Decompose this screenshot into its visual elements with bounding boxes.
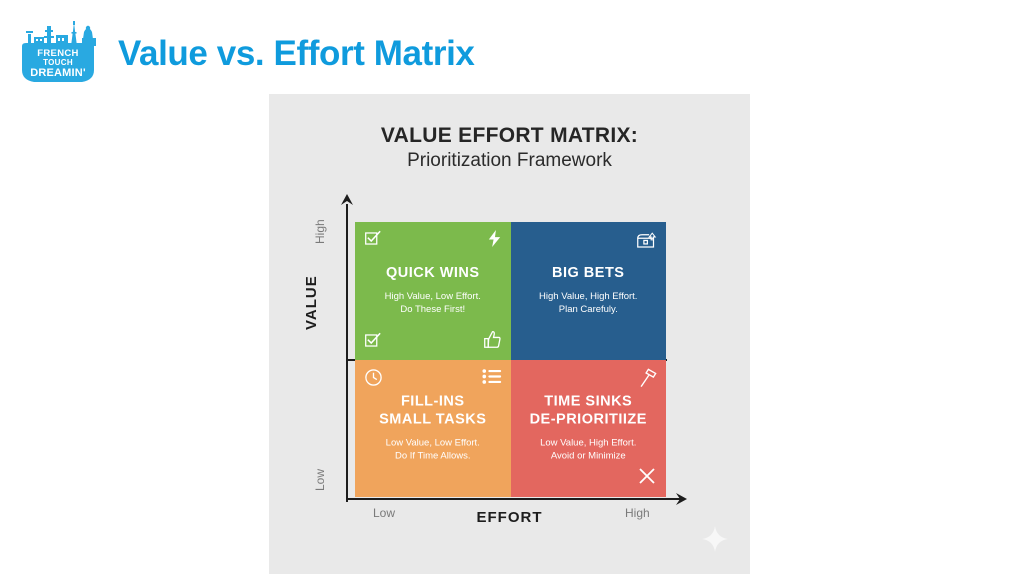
matrix-subtitle: Prioritization Framework <box>269 150 750 172</box>
quadrant-fill-ins-title-line1: FILL-INS <box>363 394 503 411</box>
quadrant-quick-wins[interactable]: QUICK WINS High Value, Low Effort. Do Th… <box>355 222 511 360</box>
quadrant-big-bets-title: BIG BETS <box>519 265 659 282</box>
value-axis-tick-high: High <box>313 219 327 244</box>
quadrant-time-sinks-desc-line1: Low Value, High Effort. <box>519 437 659 450</box>
quadrant-quick-wins-desc-line2: Do These First! <box>363 304 503 317</box>
quadrant-fill-ins-desc-line1: Low Value, Low Effort. <box>363 437 503 450</box>
quadrant-time-sinks-title-line2: DE-PRIORITIIZE <box>519 411 659 428</box>
effort-axis-arrow-icon <box>673 492 687 506</box>
clock-icon <box>364 368 383 392</box>
french-touch-dreamin-logo: FRENCH TOUCH DREAMIN' <box>14 18 102 86</box>
quadrant-big-bets-desc: High Value, High Effort. Plan Carefuly. <box>519 291 659 317</box>
quadrant-quick-wins-title: QUICK WINS <box>363 265 503 282</box>
slide-header: FRENCH TOUCH DREAMIN' Value vs. Effort M… <box>0 0 1024 100</box>
value-axis-arrow-icon <box>340 194 354 208</box>
value-axis-line <box>346 204 348 502</box>
quadrant-fill-ins[interactable]: FILL-INS SMALL TASKS Low Value, Low Effo… <box>355 360 511 498</box>
svg-text:DREAMIN': DREAMIN' <box>30 67 86 79</box>
quadrant-time-sinks-title-line1: TIME SINKS <box>519 394 659 411</box>
svg-text:TOUCH: TOUCH <box>43 58 73 67</box>
value-axis-tick-low: Low <box>313 469 327 491</box>
quadrant-quick-wins-desc-line1: High Value, Low Effort. <box>363 291 503 304</box>
quadrant-big-bets-desc-line2: Plan Carefuly. <box>519 304 659 317</box>
matrix-title: VALUE EFFORT MATRIX: <box>269 124 750 148</box>
quadrant-quick-wins-desc: High Value, Low Effort. Do These First! <box>363 291 503 317</box>
quadrant-quick-wins-content: QUICK WINS High Value, Low Effort. Do Th… <box>355 265 511 317</box>
quadrant-time-sinks-title: TIME SINKS DE-PRIORITIIZE <box>519 394 659 429</box>
quadrant-time-sinks[interactable]: TIME SINKS DE-PRIORITIIZE Low Value, Hig… <box>511 360 667 498</box>
matrix-plot-area: QUICK WINS High Value, Low Effort. Do Th… <box>355 222 666 497</box>
cross-x-icon <box>637 466 657 491</box>
effort-axis-tick-high: High <box>625 506 650 520</box>
page-title: Value vs. Effort Matrix <box>118 34 474 74</box>
quadrant-fill-ins-desc: Low Value, Low Effort. Do If Time Allows… <box>363 437 503 463</box>
matrix-card: VALUE EFFORT MATRIX: Prioritization Fram… <box>269 94 750 574</box>
bullet-list-icon <box>482 368 502 390</box>
checkbox-checked-icon <box>364 230 381 252</box>
hammer-icon <box>637 368 657 393</box>
quadrant-big-bets-desc-line1: High Value, High Effort. <box>519 291 659 304</box>
logo-icon: FRENCH TOUCH DREAMIN' <box>14 18 102 86</box>
quadrant-time-sinks-desc: Low Value, High Effort. Avoid or Minimiz… <box>519 437 659 463</box>
effort-axis-line <box>347 498 680 500</box>
effort-axis-tick-low: Low <box>373 506 395 520</box>
lightning-bolt-icon <box>487 230 502 252</box>
quadrant-fill-ins-content: FILL-INS SMALL TASKS Low Value, Low Effo… <box>355 394 511 463</box>
quadrant-fill-ins-title-line2: SMALL TASKS <box>363 411 503 428</box>
value-axis-label: VALUE <box>303 275 320 330</box>
thumbs-up-icon <box>483 330 502 354</box>
quadrant-big-bets-content: BIG BETS High Value, High Effort. Plan C… <box>511 265 667 317</box>
quadrant-time-sinks-content: TIME SINKS DE-PRIORITIIZE Low Value, Hig… <box>511 394 667 463</box>
treasure-chest-icon <box>636 230 657 255</box>
quadrant-big-bets[interactable]: BIG BETS High Value, High Effort. Plan C… <box>511 222 667 360</box>
quadrant-time-sinks-desc-line2: Avoid or Minimize <box>519 450 659 463</box>
slide-canvas: FRENCH TOUCH DREAMIN' Value vs. Effort M… <box>0 0 1024 583</box>
sparkle-icon <box>702 526 728 552</box>
quadrant-fill-ins-desc-line2: Do If Time Allows. <box>363 450 503 463</box>
quadrant-fill-ins-title: FILL-INS SMALL TASKS <box>363 394 503 429</box>
effort-axis-label: EFFORT <box>269 509 750 526</box>
checkbox-checked-icon <box>364 332 381 354</box>
